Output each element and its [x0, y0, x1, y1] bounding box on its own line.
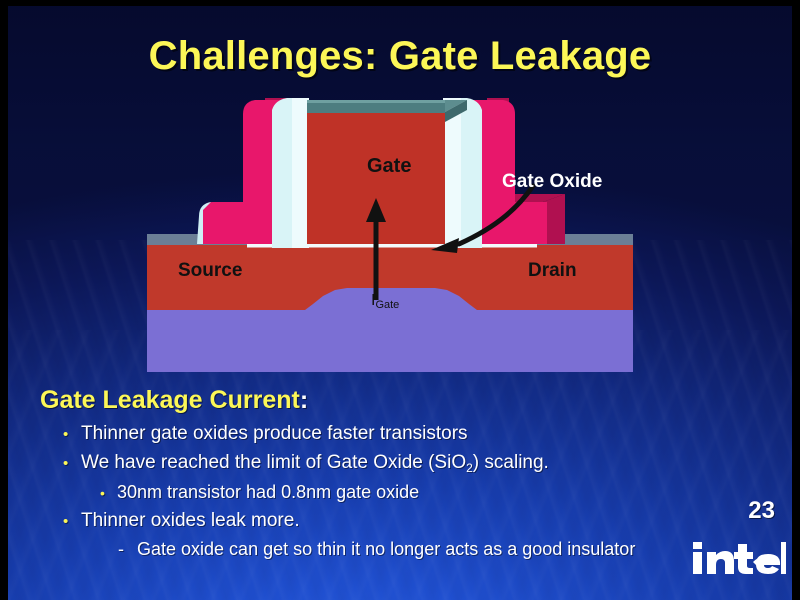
body-heading: Gate Leakage Current: [40, 386, 308, 415]
mosfet-diagram [147, 98, 633, 373]
logo-letter-t [734, 544, 753, 574]
diagram-label-drain: Drain [528, 260, 577, 282]
gate-cap-highlight [307, 100, 445, 103]
current-subscript: Gate [375, 299, 399, 311]
page-number: 23 [748, 497, 775, 525]
diagram-label-gate-current: IGate [371, 292, 399, 310]
bullet-text-after: ) scaling. [473, 452, 549, 473]
bullet-marker: • [100, 485, 117, 501]
bullet-marker: • [63, 513, 81, 530]
bullet-marker: - [118, 539, 137, 560]
gate-cap-front [307, 102, 445, 113]
bullet-text: Thinner oxides leak more. [81, 510, 300, 531]
logo-letter-n [707, 551, 734, 574]
bullet-item: •Thinner gate oxides produce faster tran… [63, 423, 468, 445]
spacer-left-foot-face [203, 202, 267, 244]
body-heading-colon: : [300, 386, 308, 414]
bullet-marker: • [63, 426, 81, 443]
bullet-item: •We have reached the limit of Gate Oxide… [63, 452, 549, 474]
bullet-item: -Gate oxide can get so thin it no longer… [118, 539, 635, 560]
logo-letter-i-stem [693, 552, 702, 574]
spacer-right-foot-face [493, 202, 547, 244]
gate-sidewall-left-highlight [292, 98, 309, 248]
bullet-item: •Thinner oxides leak more. [63, 510, 300, 532]
bullet-text-before: We have reached the limit of Gate Oxide … [81, 452, 466, 473]
slide-title: Challenges: Gate Leakage [0, 34, 800, 79]
bullet-marker: • [63, 455, 81, 472]
mosfet-cross-section-graphic [147, 98, 633, 373]
bullet-text: 30nm transistor had 0.8nm gate oxide [117, 482, 419, 502]
bullet-subscript: 2 [466, 461, 473, 475]
logo-letter-i-dot [693, 542, 702, 549]
diagram-label-gate-oxide: Gate Oxide [502, 171, 602, 193]
logo-letter-l [781, 542, 786, 574]
diagram-label-source: Source [178, 260, 242, 282]
intel-logo [690, 538, 786, 584]
bullet-item: •30nm transistor had 0.8nm gate oxide [100, 482, 419, 503]
diagram-label-gate: Gate [367, 155, 411, 178]
intel-logo-graphic [690, 538, 786, 584]
bullet-text: Thinner gate oxides produce faster trans… [81, 423, 468, 444]
body-heading-text: Gate Leakage Current [40, 386, 300, 414]
bullet-text: Gate oxide can get so thin it no longer … [137, 539, 635, 559]
slide: Challenges: Gate Leakage [0, 0, 800, 600]
